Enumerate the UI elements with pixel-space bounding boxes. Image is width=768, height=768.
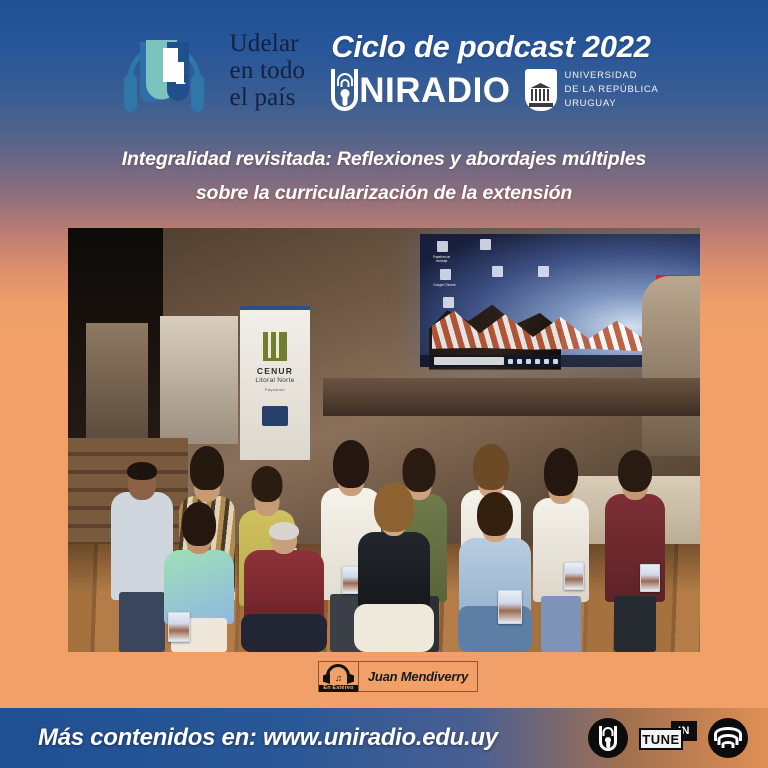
cenur-logo-icon (263, 332, 287, 361)
platform-icons: IN TUNE (588, 718, 748, 758)
universidad-line-2: DE LA REPÚBLICA (565, 83, 659, 97)
desktop-icon-2 (480, 239, 491, 250)
universidad-line-3: URUGUAY (565, 97, 659, 111)
universidad-lines: UNIVERSIDAD DE LA REPÚBLICA URUGUAY (565, 69, 659, 110)
photo-person (238, 512, 330, 652)
udelar-crest-icon (525, 69, 557, 111)
desktop-icon-4 (492, 266, 503, 277)
photo-doorway (86, 323, 148, 443)
group-photo: CENUR Litoral Norte Paysandú Papelera de… (68, 228, 700, 652)
uniradio-header-block: Ciclo de podcast 2022 NIRADIO (331, 29, 658, 111)
photo-person (352, 500, 436, 652)
title-line-2: sobre la curricularización de la extensi… (30, 177, 738, 211)
desktop-icon-5 (538, 266, 549, 277)
title-line-1: Integralidad revisitada: Reflexiones y a… (122, 148, 646, 170)
projection-search-box (434, 357, 503, 364)
ciclo-de-podcast-title: Ciclo de podcast 2022 (331, 29, 650, 65)
headphones-icon: ♫ En Estéreo (319, 662, 359, 691)
publication-booklet (640, 564, 660, 592)
uniradio-wordmark: NIRADIO (359, 73, 510, 108)
cenur-banner-region: Litoral Norte (240, 377, 310, 384)
page-title: Integralidad revisitada: Reflexiones y a… (0, 143, 768, 210)
publication-booklet (168, 612, 190, 642)
photo-person (530, 442, 592, 652)
cenur-rollup-banner: CENUR Litoral Norte Paysandú (240, 306, 310, 460)
spotify-icon[interactable] (708, 718, 748, 758)
cenur-banner-name: CENUR (240, 366, 310, 376)
desktop-icon-6 (443, 297, 454, 308)
photo-person (602, 440, 668, 652)
tunein-icon[interactable]: IN TUNE (639, 721, 697, 755)
udelar-line-1: Udelar (230, 30, 306, 57)
udelar-line-3: el país (230, 84, 306, 111)
en-estereo-label: En Estéreo (319, 685, 358, 692)
speaker-badge: ♫ En Estéreo Juan Mendiverry (318, 661, 478, 692)
desktop-icon-3 (440, 269, 451, 280)
publication-booklet (564, 562, 584, 590)
universidad-line-1: UNIVERSIDAD (565, 69, 659, 83)
desktop-icon-label-3: Google Chrome (432, 283, 458, 287)
cenur-banner-crest (262, 406, 288, 426)
brand-row: NIRADIO UNIVERSIDAD DE LA REPÚBLICA URUG… (331, 69, 658, 111)
udelar-line-2: en todo (230, 57, 306, 84)
uniradio-mic-logo-icon (331, 69, 358, 111)
footer-bar: Más contenidos en: www.uniradio.edu.uy I… (0, 708, 768, 768)
photo-person (162, 508, 236, 652)
footer-website-text: Más contenidos en: www.uniradio.edu.uy (38, 724, 498, 752)
universidad-de-la-republica-block: UNIVERSIDAD DE LA REPÚBLICA URUGUAY (525, 69, 659, 111)
photo-table (323, 378, 700, 416)
udelar-wordmark: Udelar en todo el país (230, 30, 306, 111)
tunein-label-tune: TUNE (639, 728, 683, 750)
udelar-en-todo-el-pais-logo: Udelar en todo el país (110, 18, 306, 122)
header: Udelar en todo el país Ciclo de podcast … (0, 0, 768, 140)
photo-white-panel (160, 316, 238, 444)
podcast-promo-poster: Udelar en todo el país Ciclo de podcast … (0, 0, 768, 768)
uniradio-circle-icon[interactable] (588, 718, 628, 758)
publication-booklet (498, 590, 522, 624)
speaker-name: Juan Mendiverry (359, 669, 477, 684)
photo-person (454, 506, 536, 652)
desktop-icon-label-1: Papelera de reciclaje (429, 255, 455, 263)
udelar-headphones-logo-icon (110, 18, 218, 122)
cenur-banner-place: Paysandú (240, 387, 310, 392)
photo-arch (642, 276, 700, 456)
uniradio-logo: NIRADIO (331, 69, 510, 111)
desktop-icon-1 (437, 241, 448, 252)
